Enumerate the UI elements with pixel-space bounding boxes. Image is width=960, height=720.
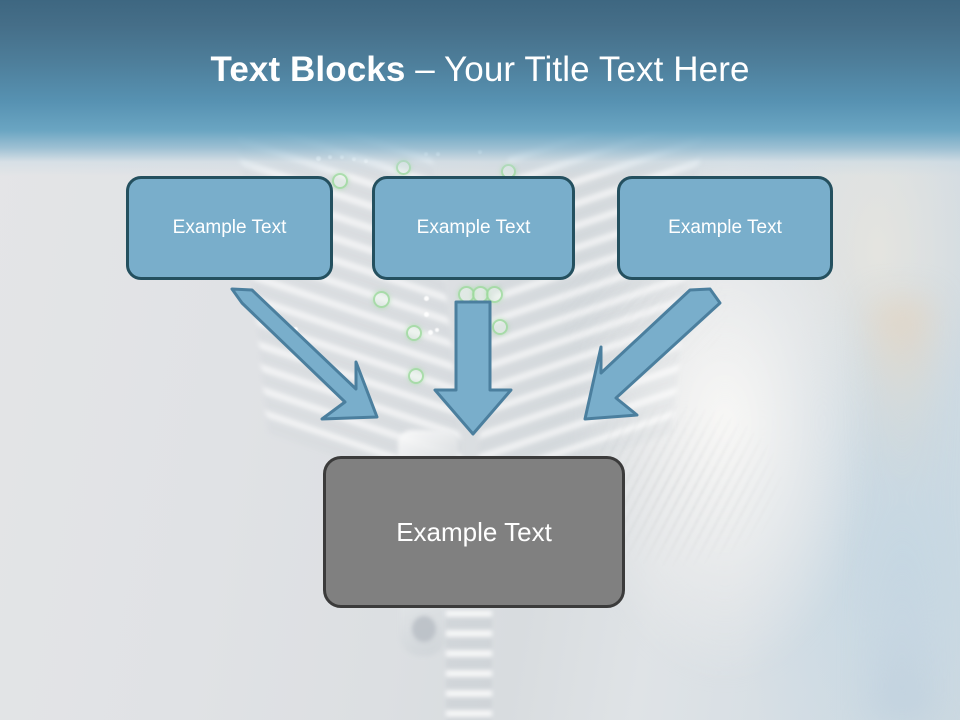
page-title-rest: – Your Title Text Here <box>415 50 749 89</box>
speck <box>293 327 298 332</box>
speck <box>428 330 433 335</box>
background-eyelashes <box>600 370 860 580</box>
text-block-3[interactable]: Example Text <box>617 176 833 280</box>
text-block-3-label: Example Text <box>668 217 782 239</box>
background-light-flare <box>872 300 932 720</box>
slide-canvas: Text Blocks – Your Title Text Here Examp… <box>0 0 960 720</box>
text-block-2[interactable]: Example Text <box>372 176 575 280</box>
bokeh-circle <box>406 325 422 341</box>
bokeh-circle <box>492 319 508 335</box>
speck <box>424 296 429 301</box>
text-block-1-label: Example Text <box>173 217 287 239</box>
zipper-pull-hole <box>412 616 436 642</box>
speck <box>424 312 429 317</box>
result-text-block-label: Example Text <box>396 517 552 548</box>
bokeh-circle <box>408 368 424 384</box>
speck <box>435 328 439 332</box>
result-text-block[interactable]: Example Text <box>323 456 625 608</box>
bokeh-circle <box>486 286 503 303</box>
page-title: Text Blocks – Your Title Text Here <box>0 48 960 92</box>
page-title-bold: Text Blocks <box>210 50 415 89</box>
bokeh-circle <box>373 291 390 308</box>
text-block-2-label: Example Text <box>417 217 531 239</box>
text-block-1[interactable]: Example Text <box>126 176 333 280</box>
